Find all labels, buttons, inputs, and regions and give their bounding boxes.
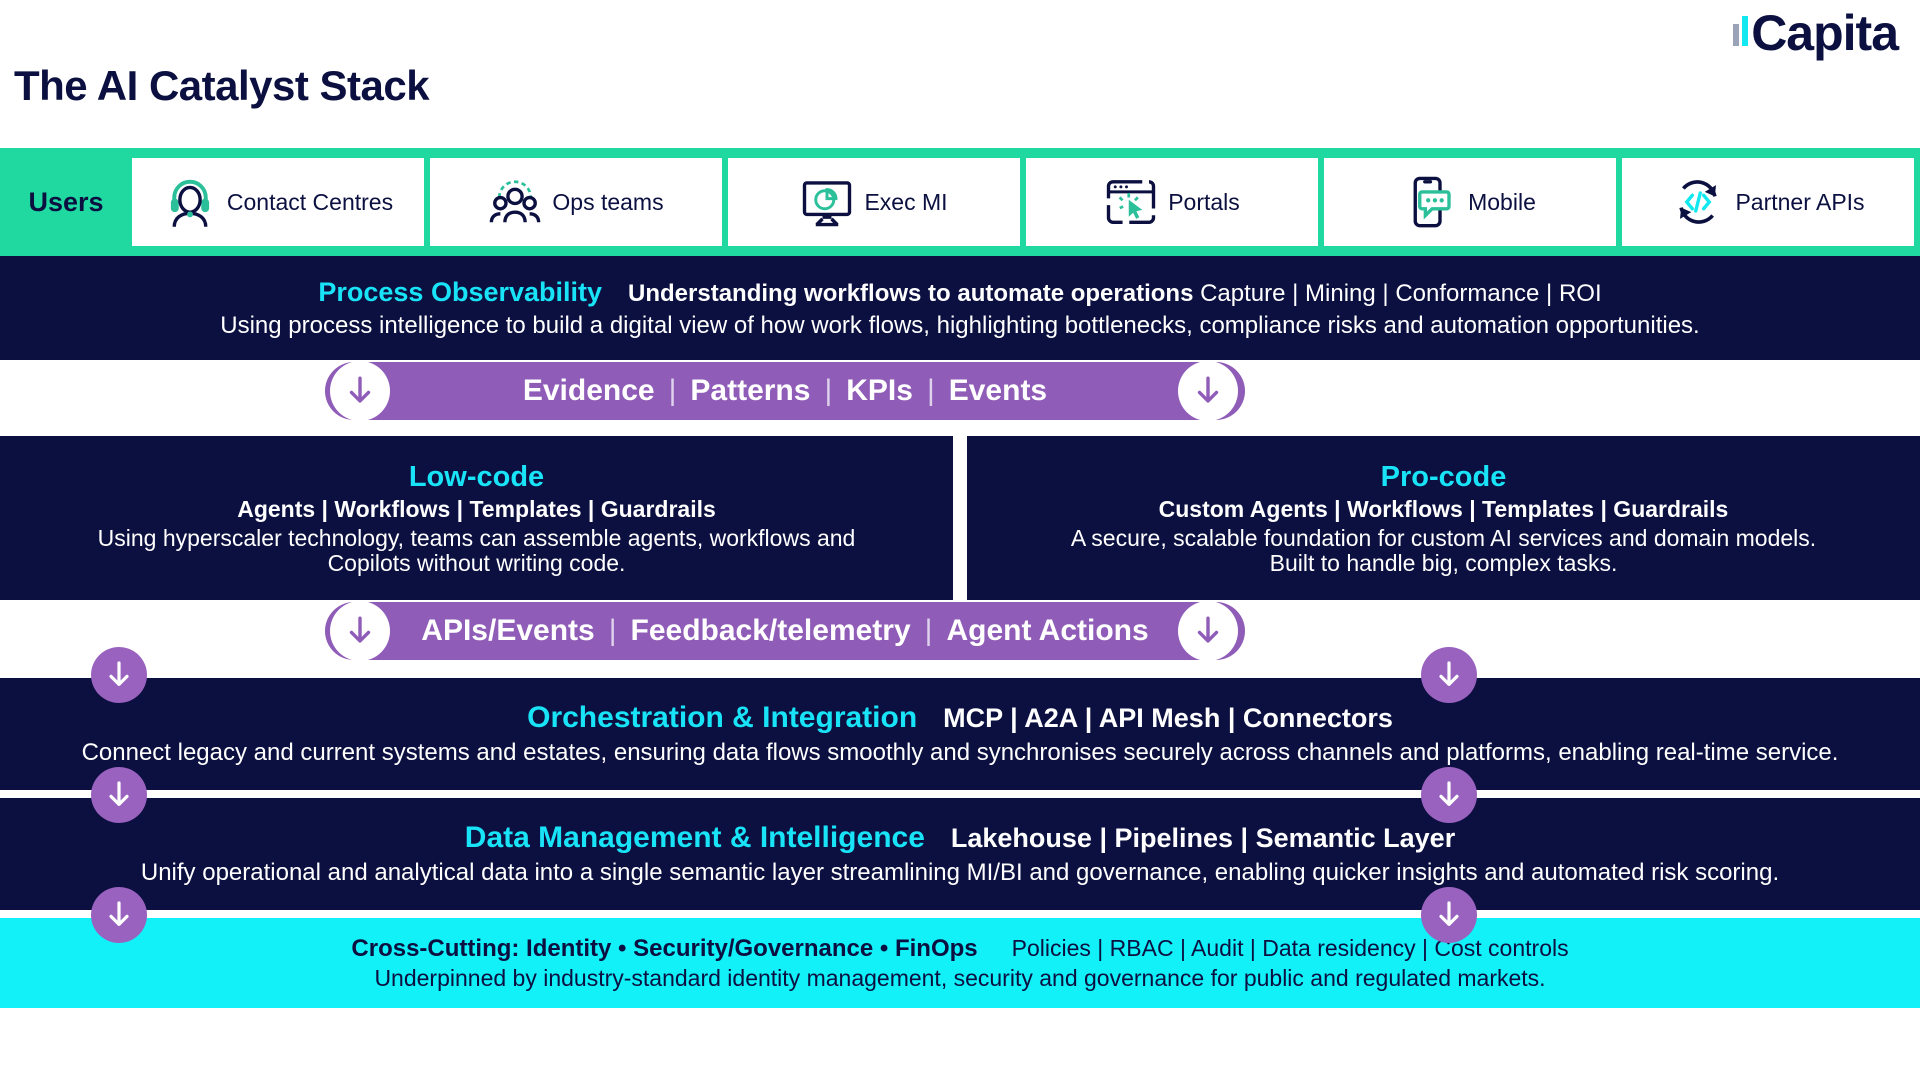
arrow-down-icon — [1433, 659, 1465, 691]
arrow-down-icon — [343, 614, 377, 648]
mobile-chat-icon — [1404, 175, 1458, 229]
arrow-down-icon — [1433, 899, 1465, 931]
arrow-down-icon — [1191, 374, 1225, 408]
arrow-circle-left-data — [91, 767, 147, 823]
arrow-circle-left-orchestration — [91, 647, 147, 703]
arrow-circle-left-cross-cutting — [91, 887, 147, 943]
orchestration-heading: Orchestration & Integration — [527, 701, 917, 735]
split-half-lowcode: Low-code Agents | Workflows | Templates … — [0, 436, 953, 600]
pill-row-evidence: Evidence | Patterns | KPIs | Events — [0, 358, 1920, 424]
arrow-circle-right — [1178, 361, 1238, 421]
infographic-page: The AI Catalyst Stack Capita Users Conta… — [0, 0, 1920, 1080]
data-management-description: Unify operational and analytical data in… — [131, 859, 1789, 887]
monitor-piechart-icon — [800, 175, 854, 229]
process-observability-heading: Process Observability — [318, 277, 602, 308]
pill-evidence-patterns-kpis-events[interactable]: Evidence | Patterns | KPIs | Events — [325, 362, 1245, 420]
capita-logo: Capita — [1733, 8, 1898, 58]
pill-item-patterns: Patterns — [690, 374, 810, 408]
arrow-down-icon — [1191, 614, 1225, 648]
arrow-down-icon — [103, 899, 135, 931]
user-card-ops-teams[interactable]: Ops teams — [430, 158, 722, 246]
cross-cutting-line1: Cross-Cutting: Identity • Security/Gover… — [351, 935, 1568, 963]
api-refresh-code-icon — [1671, 175, 1725, 229]
lowcode-description: Using hyperscaler technology, teams can … — [87, 526, 867, 576]
data-management-tags: Lakehouse | Pipelines | Semantic Layer — [951, 823, 1455, 854]
arrow-circle-right-orchestration — [1421, 647, 1477, 703]
pill-separator: | — [669, 374, 677, 408]
user-card-exec-mi[interactable]: Exec MI — [728, 158, 1020, 246]
user-card-label: Ops teams — [552, 189, 663, 216]
pill-item-agent-actions: Agent Actions — [946, 614, 1148, 648]
pill-apis-feedback-agentactions[interactable]: APIs/Events | Feedback/telemetry | Agent… — [325, 602, 1245, 660]
headset-agent-icon — [163, 175, 217, 229]
cross-cutting-description: Underpinned by industry-standard identit… — [374, 965, 1545, 992]
arrow-circle-right-data — [1421, 767, 1477, 823]
user-card-label: Mobile — [1468, 189, 1536, 216]
band-cross-cutting: Cross-Cutting: Identity • Security/Gover… — [0, 918, 1920, 1008]
arrow-circle-right — [1178, 601, 1238, 661]
cross-cutting-tags: Policies | RBAC | Audit | Data residency… — [1012, 935, 1569, 962]
procode-description: A secure, scalable foundation for custom… — [1054, 526, 1834, 576]
orchestration-description: Connect legacy and current systems and e… — [72, 739, 1849, 767]
user-card-label: Exec MI — [864, 189, 947, 216]
pill-separator: | — [925, 614, 933, 648]
user-card-partner-apis[interactable]: Partner APIs — [1622, 158, 1914, 246]
process-observability-description: Using process intelligence to build a di… — [210, 312, 1709, 340]
logo-wordmark: Capita — [1751, 8, 1898, 58]
pill-item-feedback-telemetry: Feedback/telemetry — [631, 614, 911, 648]
pill-item-evidence: Evidence — [523, 374, 655, 408]
pill-separator: | — [609, 614, 617, 648]
pill-item-kpis: KPIs — [846, 374, 913, 408]
pill-row-apis: APIs/Events | Feedback/telemetry | Agent… — [0, 598, 1920, 664]
arrow-down-icon — [103, 659, 135, 691]
process-observability-tags: Capture | Mining | Conformance | ROI — [1200, 280, 1602, 307]
data-management-line1: Data Management & Intelligence Lakehouse… — [465, 821, 1455, 855]
user-card-contact-centres[interactable]: Contact Centres — [132, 158, 424, 246]
user-cards-list: Contact Centres Ops teams — [132, 158, 1920, 246]
arrow-circle-left — [330, 601, 390, 661]
pill-separator: | — [927, 374, 935, 408]
logo-bars-icon — [1733, 16, 1751, 46]
pill-item-apis-events: APIs/Events — [421, 614, 594, 648]
lowcode-tags: Agents | Workflows | Templates | Guardra… — [237, 496, 716, 523]
process-observability-line1: Process Observability Understanding work… — [318, 277, 1601, 308]
arrow-circle-right-cross-cutting — [1421, 887, 1477, 943]
arrow-down-icon — [103, 779, 135, 811]
orchestration-tags: MCP | A2A | API Mesh | Connectors — [943, 703, 1393, 734]
page-title: The AI Catalyst Stack — [14, 62, 429, 110]
user-card-label: Portals — [1168, 189, 1240, 216]
process-observability-tagline: Understanding workflows to automate oper… — [628, 280, 1602, 308]
split-half-procode: Pro-code Custom Agents | Workflows | Tem… — [967, 436, 1920, 600]
lowcode-title: Low-code — [409, 461, 544, 494]
orchestration-line1: Orchestration & Integration MCP | A2A | … — [527, 701, 1393, 735]
data-management-heading: Data Management & Intelligence — [465, 821, 925, 855]
band-process-observability: Process Observability Understanding work… — [0, 256, 1920, 360]
pill-separator: | — [824, 374, 832, 408]
band-orchestration: Orchestration & Integration MCP | A2A | … — [0, 678, 1920, 790]
user-card-label: Partner APIs — [1735, 189, 1864, 216]
users-label: Users — [0, 187, 132, 218]
people-gear-icon — [488, 175, 542, 229]
procode-title: Pro-code — [1381, 461, 1507, 494]
user-card-label: Contact Centres — [227, 189, 393, 216]
cross-cutting-heading: Cross-Cutting: Identity • Security/Gover… — [351, 935, 977, 963]
browser-cursor-icon — [1104, 175, 1158, 229]
pill-item-events: Events — [949, 374, 1047, 408]
users-band: Users Contact Centres — [0, 148, 1920, 256]
procode-tags: Custom Agents | Workflows | Templates | … — [1159, 496, 1729, 523]
arrow-down-icon — [343, 374, 377, 408]
arrow-down-icon — [1433, 779, 1465, 811]
split-divider — [953, 436, 967, 600]
user-card-mobile[interactable]: Mobile — [1324, 158, 1616, 246]
arrow-circle-left — [330, 361, 390, 421]
band-data-management: Data Management & Intelligence Lakehouse… — [0, 798, 1920, 910]
split-lowcode-procode: Low-code Agents | Workflows | Templates … — [0, 436, 1920, 600]
user-card-portals[interactable]: Portals — [1026, 158, 1318, 246]
